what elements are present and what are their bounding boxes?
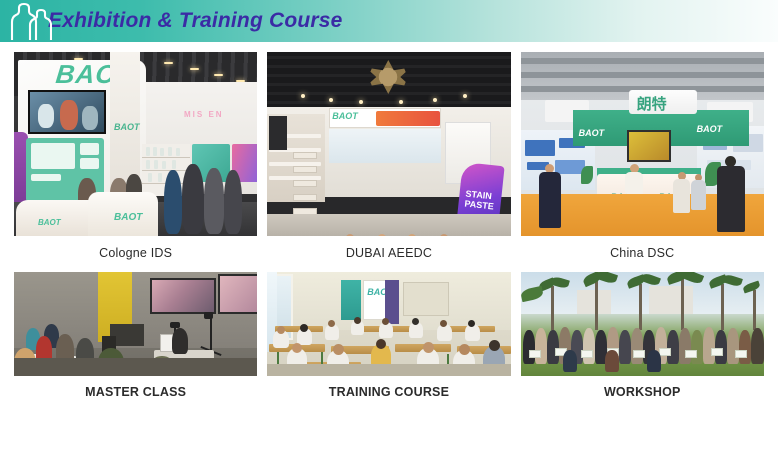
photo-dubai-aeedc[interactable]: BAOT STAIN PASTE — [267, 52, 510, 236]
page-title: Exhibition & Training Course — [48, 9, 343, 33]
kneeling-attendee — [647, 350, 661, 372]
gallery-row-top: MIS EN BAOT BAOT — [14, 52, 764, 260]
visitor — [204, 168, 224, 234]
banner-text: STAIN PASTE — [464, 188, 502, 212]
visitor — [182, 164, 204, 234]
counter-brand-label: BAOT — [114, 212, 142, 223]
caption-training-course: TRAINING COURSE — [267, 376, 510, 399]
building — [649, 286, 693, 314]
visitor — [164, 170, 182, 234]
brand-banner-right — [385, 280, 399, 324]
caption-master-class: MASTER CLASS — [14, 376, 257, 399]
photo-master-class[interactable] — [14, 272, 257, 376]
page-header: Exhibition & Training Course — [0, 0, 778, 42]
booth-tv-screen — [627, 130, 671, 162]
wall-board — [403, 282, 449, 316]
column-brand-label: BAOT — [114, 122, 140, 132]
gallery-item-cologne-ids[interactable]: MIS EN BAOT BAOT — [14, 52, 257, 260]
brand-banner-left — [341, 280, 361, 320]
caption-workshop: WORKSHOP — [521, 376, 764, 399]
photo-workshop[interactable] — [521, 272, 764, 376]
wall-text: MIS EN — [184, 110, 224, 119]
booth-graphic-panel — [329, 129, 441, 163]
projection-screen-main — [150, 278, 216, 314]
projection-screen-side — [218, 274, 257, 314]
room-floor — [14, 358, 257, 376]
caption-dubai-aeedc: DUBAI AEEDC — [267, 236, 510, 260]
booth-chinese-sign: 朗特 — [637, 93, 667, 114]
partner-sign — [376, 111, 440, 126]
gallery-row-bottom: MASTER CLASS BAOT — [14, 272, 764, 399]
gallery-item-training-course[interactable]: BAOT — [267, 272, 510, 399]
photo-china-dsc[interactable]: BAOT BAOT 朗特 BAOT BAOT — [521, 52, 764, 236]
gallery-item-master-class[interactable]: MASTER CLASS — [14, 272, 257, 399]
presenter — [172, 328, 188, 354]
counter-brand-label: BAOT — [38, 218, 61, 227]
caption-cologne-ids: Cologne IDS — [14, 236, 257, 260]
gallery-item-workshop[interactable]: WORKSHOP — [521, 272, 764, 399]
attendee-crowd — [521, 324, 764, 368]
booth-brand-logo: BAOT — [332, 111, 358, 121]
gallery-item-china-dsc[interactable]: BAOT BAOT 朗特 BAOT BAOT — [521, 52, 764, 260]
booth-tv-screen — [28, 90, 106, 134]
booth-brand-logo: BAOT — [579, 128, 605, 138]
exhibition-floor — [267, 214, 510, 236]
booth-signboard: BAOT — [329, 108, 441, 128]
classroom-floor — [267, 364, 510, 376]
gallery-grid: MIS EN BAOT BAOT — [14, 52, 764, 399]
building — [577, 290, 611, 314]
caption-china-dsc: China DSC — [521, 236, 764, 260]
gallery-item-dubai-aeedc[interactable]: BAOT STAIN PASTE — [267, 52, 510, 260]
photo-cologne-ids[interactable]: MIS EN BAOT BAOT — [14, 52, 257, 236]
two-people-icon — [0, 0, 52, 42]
booth-brand-logo: BAOT — [697, 124, 723, 134]
photo-training-course[interactable]: BAOT — [267, 272, 510, 376]
visitor — [224, 170, 242, 234]
kneeling-attendee — [563, 350, 577, 372]
kneeling-attendee — [605, 350, 619, 372]
display-cabinet — [269, 116, 287, 150]
